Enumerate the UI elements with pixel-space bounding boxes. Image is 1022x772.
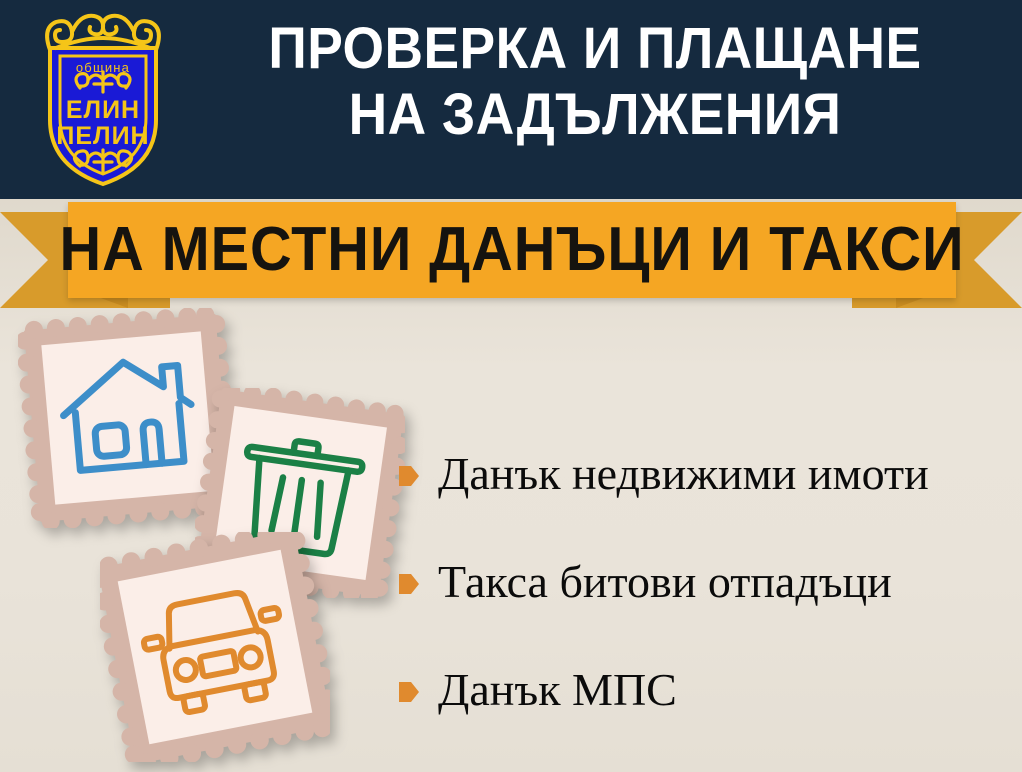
subtitle-ribbon: НА МЕСТНИ ДАНЪЦИ И ТАКСИ bbox=[0, 190, 1022, 315]
stamp-collage bbox=[0, 300, 420, 772]
list-item-label: Такса битови отпадъци bbox=[438, 557, 892, 607]
logo-word-line1: ЕЛИН bbox=[66, 96, 140, 124]
list-item[interactable]: Такса битови отпадъци bbox=[398, 528, 1022, 636]
poster-canvas: община ЕЛИН ПЕЛИН bbox=[0, 0, 1022, 772]
arrow-bullet-icon bbox=[398, 679, 420, 705]
list-item[interactable]: Данък МПС bbox=[398, 636, 1022, 744]
list-item-label: Данък МПС bbox=[438, 665, 677, 715]
municipality-logo: община ЕЛИН ПЕЛИН bbox=[22, 8, 184, 190]
page-title-line-2: НА ЗАДЪЛЖЕНИЯ bbox=[218, 82, 972, 148]
page-title-line-1: ПРОВЕРКА И ПЛАЩАНЕ bbox=[268, 16, 921, 81]
arrow-bullet-icon bbox=[398, 571, 420, 597]
ribbon-label: НА МЕСТНИ ДАНЪЦИ И ТАКСИ bbox=[99, 202, 925, 298]
stamp-vehicle bbox=[100, 532, 330, 762]
arrow-bullet-icon bbox=[398, 463, 420, 489]
header-banner: община ЕЛИН ПЕЛИН bbox=[0, 0, 1022, 199]
ribbon-body: НА МЕСТНИ ДАНЪЦИ И ТАКСИ bbox=[68, 202, 956, 298]
tax-type-list: Данък недвижими имоти Такса битови отпад… bbox=[398, 420, 1022, 744]
list-item[interactable]: Данък недвижими имоти bbox=[398, 420, 1022, 528]
page-title: ПРОВЕРКА И ПЛАЩАНЕ НА ЗАДЪЛЖЕНИЯ bbox=[218, 16, 972, 148]
logo-word-line2: ПЕЛИН bbox=[56, 122, 149, 150]
list-item-label: Данък недвижими имоти bbox=[438, 449, 929, 499]
